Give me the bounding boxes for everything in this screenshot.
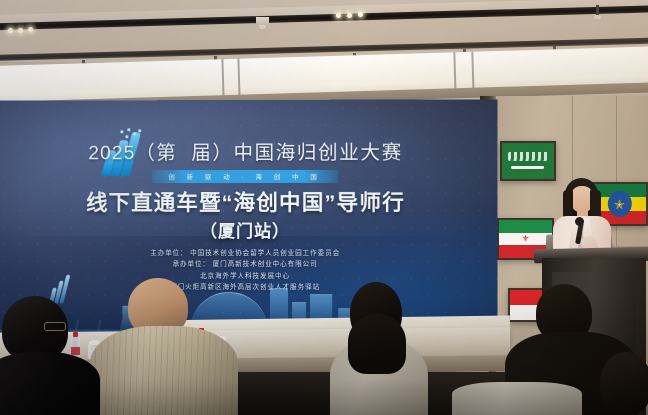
attendee-front-left-glasses-icon xyxy=(44,322,66,331)
iran-emblem: ⚜ xyxy=(521,235,529,244)
attendee-back-right xyxy=(600,352,648,415)
track-light-icon xyxy=(358,12,363,17)
microphone-head xyxy=(575,217,584,226)
track-light-icon xyxy=(336,13,341,18)
track-light-icon xyxy=(8,28,13,33)
projection-screen-frame: 2025（第 届）中国海归创业大赛 创 新 驱 动 · 海 创 中 国 线下直通… xyxy=(0,99,497,348)
conference-photo: ✭ ⚜ xyxy=(0,0,648,415)
screen-vignette xyxy=(0,99,497,348)
attendee-long-hair-hair-fall xyxy=(348,314,406,374)
ceiling-speaker-icon xyxy=(596,5,599,16)
saudi-arabia-flag xyxy=(500,141,556,181)
attendee-white-shirt-right xyxy=(452,382,582,415)
ksa-shahada-script xyxy=(508,152,548,161)
iran-green-band xyxy=(499,220,552,233)
track-light-icon xyxy=(18,28,23,33)
track-light-icon xyxy=(28,27,33,32)
projection-screen: 2025（第 届）中国海归创业大赛 创 新 驱 动 · 海 创 中 国 线下直通… xyxy=(0,99,497,348)
track-light-icon xyxy=(347,13,352,18)
attendee-front-left-shoulders xyxy=(0,352,100,415)
attendee-bald-center-shirt-stripes xyxy=(90,326,238,415)
ksa-sword xyxy=(511,166,543,169)
smoke-detector-icon xyxy=(256,17,269,28)
